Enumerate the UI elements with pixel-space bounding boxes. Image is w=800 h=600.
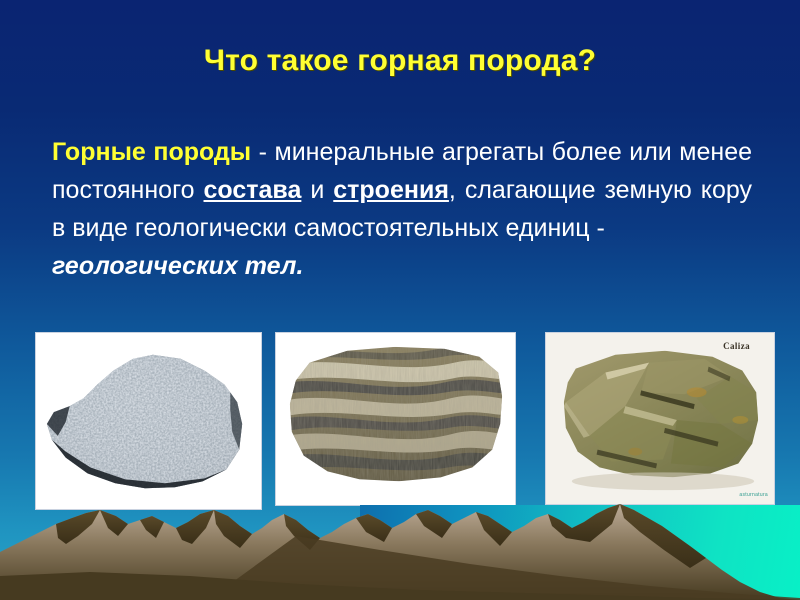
page-title: Что такое горная порода?	[0, 44, 800, 78]
emphasis-sostava: состава	[204, 176, 302, 204]
limestone-illustration	[546, 333, 774, 504]
photo-caption-caliza: Caliza	[723, 341, 750, 351]
scenery-footer	[0, 480, 800, 600]
emphasis-stroeniya: строения	[333, 176, 449, 204]
slide-canvas: Что такое горная порода? Горные породы -…	[0, 0, 800, 600]
definition-paragraph: Горные породы - минеральные агрегаты бол…	[52, 133, 752, 285]
term-gornye-porody: Горные породы	[52, 138, 251, 166]
emphasis-geologicheskih-tel: геологических тел.	[52, 247, 752, 285]
mountain-range-silhouette	[0, 480, 800, 600]
definition-segment-2: и	[301, 176, 333, 204]
